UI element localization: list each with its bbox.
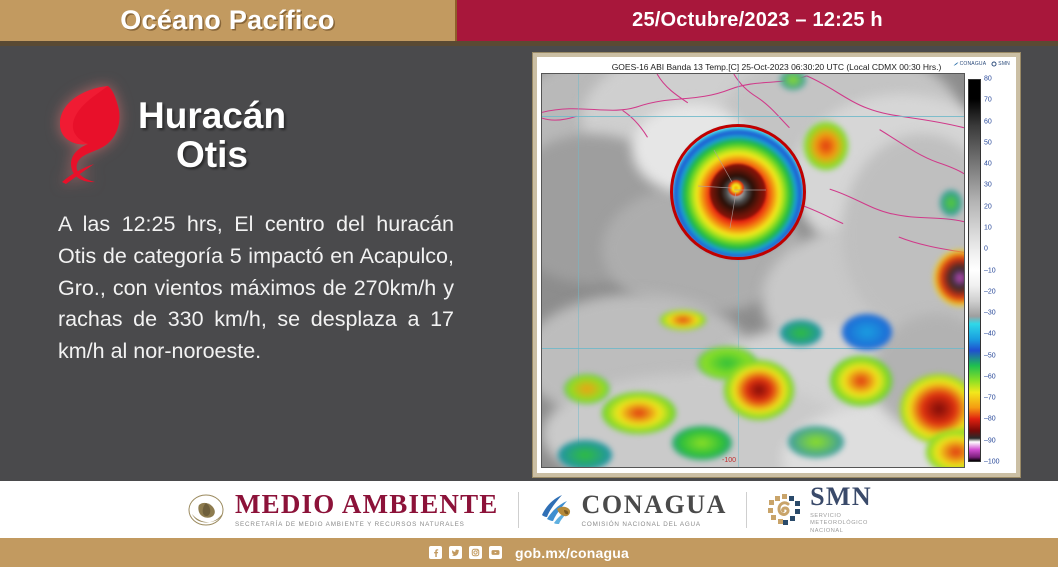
storm-name-block: Huracán Otis [138,94,286,174]
colorbar-gradient [968,79,981,462]
latitude-line [542,348,964,349]
logo-medio-ambiente: MEDIO AMBIENTE SECRETARÍA DE MEDIO AMBIE… [186,491,499,528]
smn-subtitle-line2: METEOROLÓGICO [810,520,872,528]
colorbar-tick: 70 [984,97,992,104]
storm-description: A las 12:25 hrs, El centro del huracán O… [58,209,454,368]
logo-divider [746,492,747,528]
region-title-panel: Océano Pacífico [0,0,455,41]
colorbar-tick: 20 [984,203,992,210]
hurricane-cyclone-icon [48,82,122,186]
conagua-water-eagle-icon [538,493,574,527]
website-url[interactable]: gob.mx/conagua [515,545,629,561]
smn-text: SMN SERVICIO METEOROLÓGICO NACIONAL [810,484,872,536]
twitter-icon[interactable] [449,546,462,559]
colorbar-tick: –60 [984,373,996,380]
storm-name-line2: Otis [138,135,286,174]
conagua-badge: CONAGUA [953,61,987,67]
satellite-body: -100 80706050403020100–10–20–30–40–50–60… [541,73,1012,468]
colorbar-tick: –30 [984,310,996,317]
conagua-subtitle: COMISIÓN NACIONAL DEL AGUA [582,521,728,528]
satellite-agency-badges: CONAGUA SMN [953,61,1010,67]
conagua-title: CONAGUA [582,492,728,518]
smn-spiral-icon [766,492,802,526]
satellite-imagery: -100 [541,73,965,468]
social-footer-bar: gob.mx/conagua [0,538,1058,567]
bulletin-datetime: 25/Octubre/2023 – 12:25 h [632,9,883,32]
satellite-title-text: GOES-16 ABI Banda 13 Temp.[C] 25-Oct-202… [612,62,942,72]
satellite-corner-label: -100 [722,457,736,464]
medio-ambiente-subtitle: SECRETARÍA DE MEDIO AMBIENTE Y RECURSOS … [235,521,499,528]
medio-ambiente-title: MEDIO AMBIENTE [235,491,499,518]
bulletin-page: Océano Pacífico 25/Octubre/2023 – 12:25 … [0,0,1058,567]
colorbar-tick: 30 [984,182,992,189]
colorbar-tick: –50 [984,352,996,359]
storm-name-line1: Huracán [138,96,286,135]
colorbar-tick: 60 [984,118,992,125]
colorbar-tick: –80 [984,416,996,423]
temperature-colorbar: 80706050403020100–10–20–30–40–50–60–70–8… [965,73,1012,468]
top-header-bar: Océano Pacífico 25/Octubre/2023 – 12:25 … [0,0,1058,41]
colorbar-tick: 80 [984,76,992,83]
smn-subtitle: SERVICIO METEOROLÓGICO NACIONAL [810,513,872,536]
mexico-eagle-seal-icon [186,493,226,527]
datetime-panel: 25/Octubre/2023 – 12:25 h [455,0,1058,41]
youtube-icon[interactable] [489,546,502,559]
smn-badge: SMN [991,61,1010,67]
colorbar-tick-labels: 80706050403020100–10–20–30–40–50–60–70–8… [982,79,1010,462]
longitude-line [578,74,579,467]
colorbar-tick: –90 [984,437,996,444]
satellite-title-bar: GOES-16 ABI Banda 13 Temp.[C] 25-Oct-202… [541,60,1012,73]
satellite-image-panel: GOES-16 ABI Banda 13 Temp.[C] 25-Oct-202… [533,53,1020,477]
latitude-line [542,116,964,117]
medio-ambiente-text: MEDIO AMBIENTE SECRETARÍA DE MEDIO AMBIE… [235,491,499,528]
instagram-icon[interactable] [469,546,482,559]
colorbar-tick: 10 [984,224,992,231]
logo-conagua: CONAGUA COMISIÓN NACIONAL DEL AGUA [538,492,728,528]
colorbar-tick: –70 [984,395,996,402]
colorbar-tick: 0 [984,246,988,253]
agency-logo-footer: MEDIO AMBIENTE SECRETARÍA DE MEDIO AMBIE… [0,481,1058,538]
logo-smn: SMN SERVICIO METEOROLÓGICO NACIONAL [766,484,872,536]
satellite-inner: GOES-16 ABI Banda 13 Temp.[C] 25-Oct-202… [537,57,1016,473]
smn-subtitle-line3: NACIONAL [810,528,872,536]
storm-info-column: Huracán Otis A las 12:25 hrs, El centro … [0,46,520,476]
storm-center-marker [670,124,806,260]
smn-title: SMN [810,484,872,510]
logo-divider [518,492,519,528]
colorbar-tick: 50 [984,139,992,146]
storm-title-row: Huracán Otis [48,82,286,186]
facebook-icon[interactable] [429,546,442,559]
colorbar-tick: –10 [984,267,996,274]
hurricane-otis-feature [670,124,806,260]
conagua-text: CONAGUA COMISIÓN NACIONAL DEL AGUA [582,492,728,528]
colorbar-tick: 40 [984,161,992,168]
colorbar-tick: –20 [984,288,996,295]
colorbar-tick: –40 [984,331,996,338]
region-title: Océano Pacífico [120,5,335,36]
colorbar-tick: –100 [984,459,1000,466]
storm-description-text: A las 12:25 hrs, El centro del huracán O… [58,212,454,363]
